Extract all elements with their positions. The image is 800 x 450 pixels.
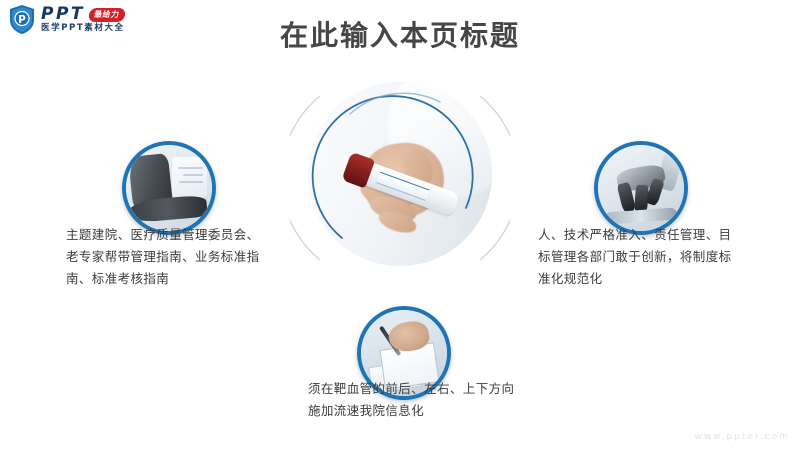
node-right-caption: 人、技术严格准入、责任管理、目标管理各部门敢于创新，将制度标准化规范化: [538, 224, 743, 290]
node-left-circle[interactable]: [122, 141, 216, 235]
microscope-photo: [598, 145, 684, 231]
hero-graphic: [290, 68, 510, 288]
page-title: 在此输入本页标题: [0, 14, 800, 54]
site-watermark: www.ppter.com: [694, 432, 790, 442]
hand-holding-blood-tube-photo: [308, 82, 492, 266]
medical-device-photo: [126, 145, 212, 231]
node-bottom-caption: 须在靶血管的前后、左右、上下方向施加流速我院信息化: [308, 378, 523, 422]
node-left-caption: 主题建院、医疗质量管理委员会、老专家帮带管理指南、业务标准指南、标准考核指南: [66, 224, 271, 290]
node-right-circle[interactable]: [594, 141, 688, 235]
